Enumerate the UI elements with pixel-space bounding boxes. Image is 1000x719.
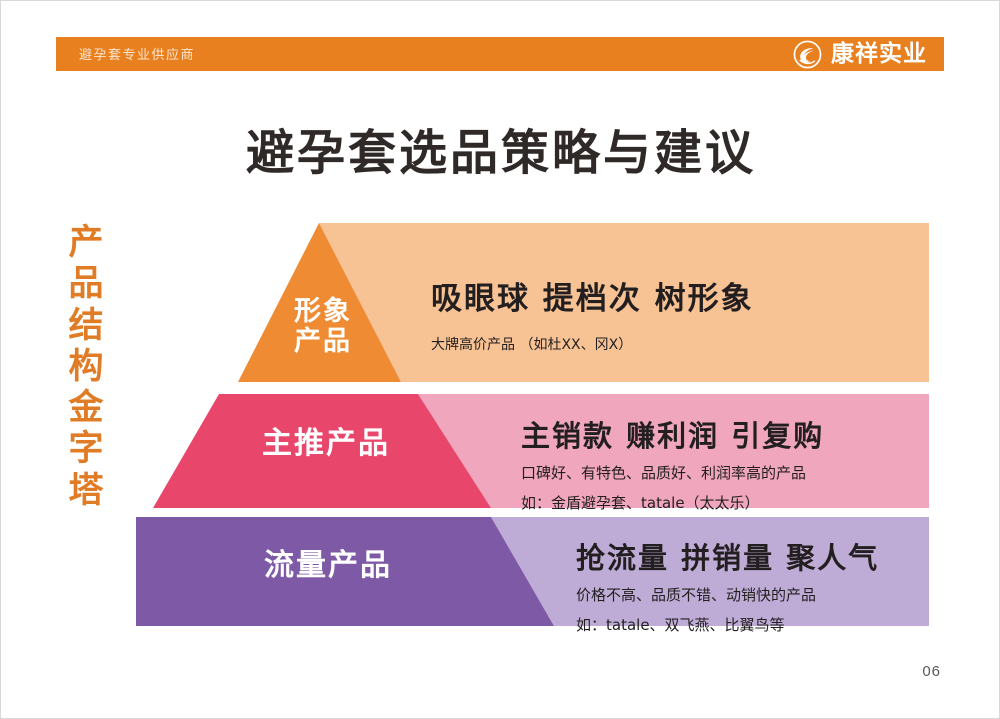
side-vertical-label: 产品结构金字塔 [63,223,109,512]
tier-heading: 吸眼球 提档次 树形象 [431,273,754,318]
logo-text: 康祥实业 [831,43,927,66]
tier-body-traffic-product: 抢流量 拼销量 聚人气 价格不高、品质不错、动销快的产品 如：tatale、双飞… [576,535,879,635]
tier-subtext-1: 口碑好、有特色、品质好、利润率高的产品 [521,462,824,483]
tier-subtext-2: 如：tatale、双飞燕、比翼鸟等 [576,614,879,635]
company-logo: 康祥实业 [793,39,927,69]
tier-subtext-2: 如：金盾避孕套、tatale（太太乐） [521,492,824,513]
tier-body-image-product: 吸眼球 提档次 树形象 大牌高价产品 （如杜XX、冈X） [431,273,754,354]
tier-badge-line-2: 产品 [273,327,373,357]
slide-canvas: 避孕套专业供应商 康祥实业 避孕套选品策略与建议 产品结构金字塔 形象 产品 [0,0,1000,719]
tier-badge-image-product: 形象 产品 [273,297,373,357]
tier-badge-line-1: 形象 [273,297,373,327]
tier-heading: 主销款 赚利润 引复购 [521,413,824,455]
tier-badge-traffic-product: 流量产品 [233,549,423,583]
tier-badge-main-push-product: 主推产品 [231,427,421,461]
tier-heading: 抢流量 拼销量 聚人气 [576,535,879,577]
tier-body-main-push-product: 主销款 赚利润 引复购 口碑好、有特色、品质好、利润率高的产品 如：金盾避孕套、… [521,413,824,513]
leaf-swirl-icon [793,40,822,69]
header-tagline: 避孕套专业供应商 [79,44,195,63]
page-title: 避孕套选品策略与建议 [1,113,1000,183]
page-number: 06 [922,663,941,680]
tier-subtext-1: 大牌高价产品 （如杜XX、冈X） [431,334,754,354]
tier-subtext-1: 价格不高、品质不错、动销快的产品 [576,584,879,605]
